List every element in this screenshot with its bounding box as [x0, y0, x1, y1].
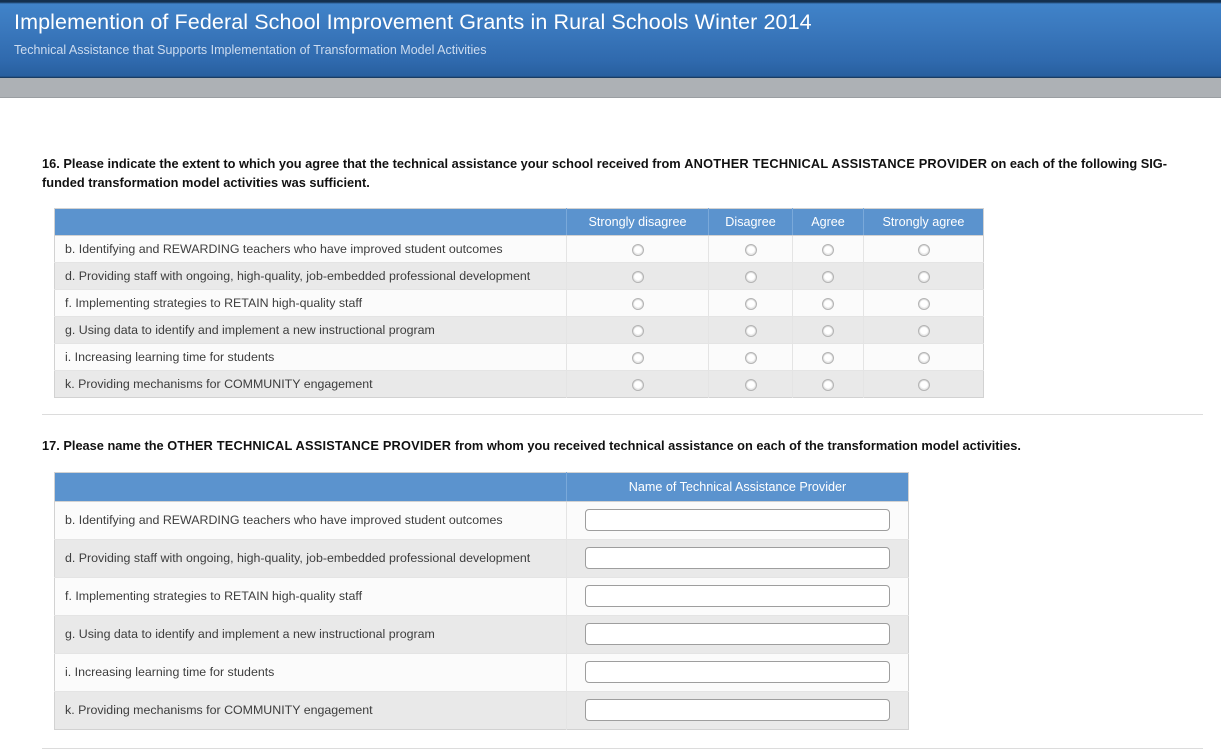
radio-icon[interactable]: [745, 379, 757, 391]
radio-icon[interactable]: [632, 244, 644, 256]
row-label: f. Implementing strategies to RETAIN hig…: [55, 577, 567, 615]
table-row: g. Using data to identify and implement …: [55, 615, 909, 653]
survey-title: Implemention of Federal School Improveme…: [14, 8, 1221, 36]
radio-icon[interactable]: [918, 379, 930, 391]
radio-cell-disagree[interactable]: [709, 344, 793, 371]
table-row: k. Providing mechanisms for COMMUNITY en…: [55, 691, 909, 729]
table-row: k. Providing mechanisms for COMMUNITY en…: [55, 371, 984, 398]
radio-icon[interactable]: [918, 244, 930, 256]
question-17-text-part1: Please name the: [60, 438, 167, 453]
table-row: f. Implementing strategies to RETAIN hig…: [55, 290, 984, 317]
radio-cell-strongly-agree[interactable]: [864, 317, 984, 344]
radio-cell-strongly-disagree[interactable]: [567, 371, 709, 398]
radio-icon[interactable]: [745, 298, 757, 310]
radio-cell-strongly-agree[interactable]: [864, 371, 984, 398]
table-row: i. Increasing learning time for students: [55, 344, 984, 371]
provider-name-input[interactable]: [585, 623, 890, 645]
survey-header: Implemention of Federal School Improveme…: [0, 0, 1221, 78]
row-label: d. Providing staff with ongoing, high-qu…: [55, 263, 567, 290]
radio-cell-agree[interactable]: [793, 236, 864, 263]
radio-icon[interactable]: [822, 298, 834, 310]
matrix-corner-header: [55, 209, 567, 236]
row-label: i. Increasing learning time for students: [55, 653, 567, 691]
radio-cell-strongly-agree[interactable]: [864, 236, 984, 263]
matrix-col-strongly-disagree: Strongly disagree: [567, 209, 709, 236]
provider-name-input[interactable]: [585, 547, 890, 569]
row-label: f. Implementing strategies to RETAIN hig…: [55, 290, 567, 317]
textmatrix-body: b. Identifying and REWARDING teachers wh…: [55, 501, 909, 729]
radio-cell-strongly-agree[interactable]: [864, 290, 984, 317]
provider-name-cell: [567, 691, 909, 729]
question-17-text-part2: from whom you received technical assista…: [451, 438, 1021, 453]
matrix-body: b. Identifying and REWARDING teachers wh…: [55, 236, 984, 398]
radio-icon[interactable]: [632, 325, 644, 337]
radio-icon[interactable]: [822, 244, 834, 256]
table-row: f. Implementing strategies to RETAIN hig…: [55, 577, 909, 615]
row-label: i. Increasing learning time for students: [55, 344, 567, 371]
radio-cell-disagree[interactable]: [709, 236, 793, 263]
radio-icon[interactable]: [822, 325, 834, 337]
table-row: i. Increasing learning time for students: [55, 653, 909, 691]
textmatrix-corner-header: [55, 472, 567, 501]
radio-cell-disagree[interactable]: [709, 371, 793, 398]
radio-icon[interactable]: [918, 325, 930, 337]
question-16-number: 16.: [42, 156, 60, 171]
radio-cell-disagree[interactable]: [709, 317, 793, 344]
textmatrix-col-provider-name: Name of Technical Assistance Provider: [567, 472, 909, 501]
row-label: d. Providing staff with ongoing, high-qu…: [55, 539, 567, 577]
radio-icon[interactable]: [632, 298, 644, 310]
radio-cell-disagree[interactable]: [709, 263, 793, 290]
question-17-block: 17. Please name the OTHER TECHNICAL ASSI…: [0, 415, 1221, 730]
provider-name-cell: [567, 653, 909, 691]
matrix-col-agree: Agree: [793, 209, 864, 236]
bottom-separator: [42, 748, 1203, 749]
question-16-emphasis: ANOTHER TECHNICAL ASSISTANCE PROVIDER: [684, 156, 987, 171]
survey-subtitle: Technical Assistance that Supports Imple…: [14, 42, 1221, 58]
provider-name-cell: [567, 577, 909, 615]
radio-icon[interactable]: [918, 298, 930, 310]
radio-cell-strongly-agree[interactable]: [864, 263, 984, 290]
radio-icon[interactable]: [918, 271, 930, 283]
table-row: b. Identifying and REWARDING teachers wh…: [55, 236, 984, 263]
provider-name-input[interactable]: [585, 585, 890, 607]
row-label: k. Providing mechanisms for COMMUNITY en…: [55, 691, 567, 729]
table-row: b. Identifying and REWARDING teachers wh…: [55, 501, 909, 539]
table-row: d. Providing staff with ongoing, high-qu…: [55, 263, 984, 290]
radio-cell-agree[interactable]: [793, 263, 864, 290]
row-label: b. Identifying and REWARDING teachers wh…: [55, 236, 567, 263]
radio-cell-agree[interactable]: [793, 344, 864, 371]
provider-name-input[interactable]: [585, 661, 890, 683]
question-17-text: 17. Please name the OTHER TECHNICAL ASSI…: [42, 437, 1201, 456]
row-label: k. Providing mechanisms for COMMUNITY en…: [55, 371, 567, 398]
matrix-header-row: Strongly disagree Disagree Agree Strongl…: [55, 209, 984, 236]
provider-name-input[interactable]: [585, 509, 890, 531]
question-17-number: 17.: [42, 438, 60, 453]
radio-cell-strongly-disagree[interactable]: [567, 344, 709, 371]
radio-cell-strongly-disagree[interactable]: [567, 263, 709, 290]
radio-icon[interactable]: [822, 352, 834, 364]
radio-icon[interactable]: [745, 325, 757, 337]
question-16-text-part1: Please indicate the extent to which you …: [60, 156, 684, 171]
row-label: b. Identifying and REWARDING teachers wh…: [55, 501, 567, 539]
provider-name-cell: [567, 615, 909, 653]
table-row: g. Using data to identify and implement …: [55, 317, 984, 344]
header-grey-bar: [0, 78, 1221, 98]
radio-icon[interactable]: [745, 244, 757, 256]
table-row: d. Providing staff with ongoing, high-qu…: [55, 539, 909, 577]
radio-icon[interactable]: [822, 379, 834, 391]
provider-name-cell: [567, 501, 909, 539]
radio-icon[interactable]: [918, 352, 930, 364]
provider-name-cell: [567, 539, 909, 577]
radio-icon[interactable]: [632, 379, 644, 391]
question-16-block: 16. Please indicate the extent to which …: [0, 98, 1221, 398]
radio-cell-strongly-disagree[interactable]: [567, 236, 709, 263]
row-label: g. Using data to identify and implement …: [55, 615, 567, 653]
radio-icon[interactable]: [745, 352, 757, 364]
radio-icon[interactable]: [632, 271, 644, 283]
textmatrix-header-row: Name of Technical Assistance Provider: [55, 472, 909, 501]
radio-cell-strongly-disagree[interactable]: [567, 290, 709, 317]
question-16-matrix: Strongly disagree Disagree Agree Strongl…: [54, 208, 984, 398]
question-17-matrix: Name of Technical Assistance Provider b.…: [54, 472, 909, 730]
radio-cell-disagree[interactable]: [709, 290, 793, 317]
matrix-col-strongly-agree: Strongly agree: [864, 209, 984, 236]
radio-cell-strongly-disagree[interactable]: [567, 317, 709, 344]
provider-name-input[interactable]: [585, 699, 890, 721]
survey-body: 16. Please indicate the extent to which …: [0, 98, 1221, 749]
matrix-col-disagree: Disagree: [709, 209, 793, 236]
radio-icon[interactable]: [632, 352, 644, 364]
question-17-emphasis: OTHER TECHNICAL ASSISTANCE PROVIDER: [167, 438, 451, 453]
radio-cell-strongly-agree[interactable]: [864, 344, 984, 371]
radio-cell-agree[interactable]: [793, 290, 864, 317]
radio-icon[interactable]: [822, 271, 834, 283]
row-label: g. Using data to identify and implement …: [55, 317, 567, 344]
radio-icon[interactable]: [745, 271, 757, 283]
question-16-text: 16. Please indicate the extent to which …: [42, 155, 1201, 192]
radio-cell-agree[interactable]: [793, 317, 864, 344]
radio-cell-agree[interactable]: [793, 371, 864, 398]
